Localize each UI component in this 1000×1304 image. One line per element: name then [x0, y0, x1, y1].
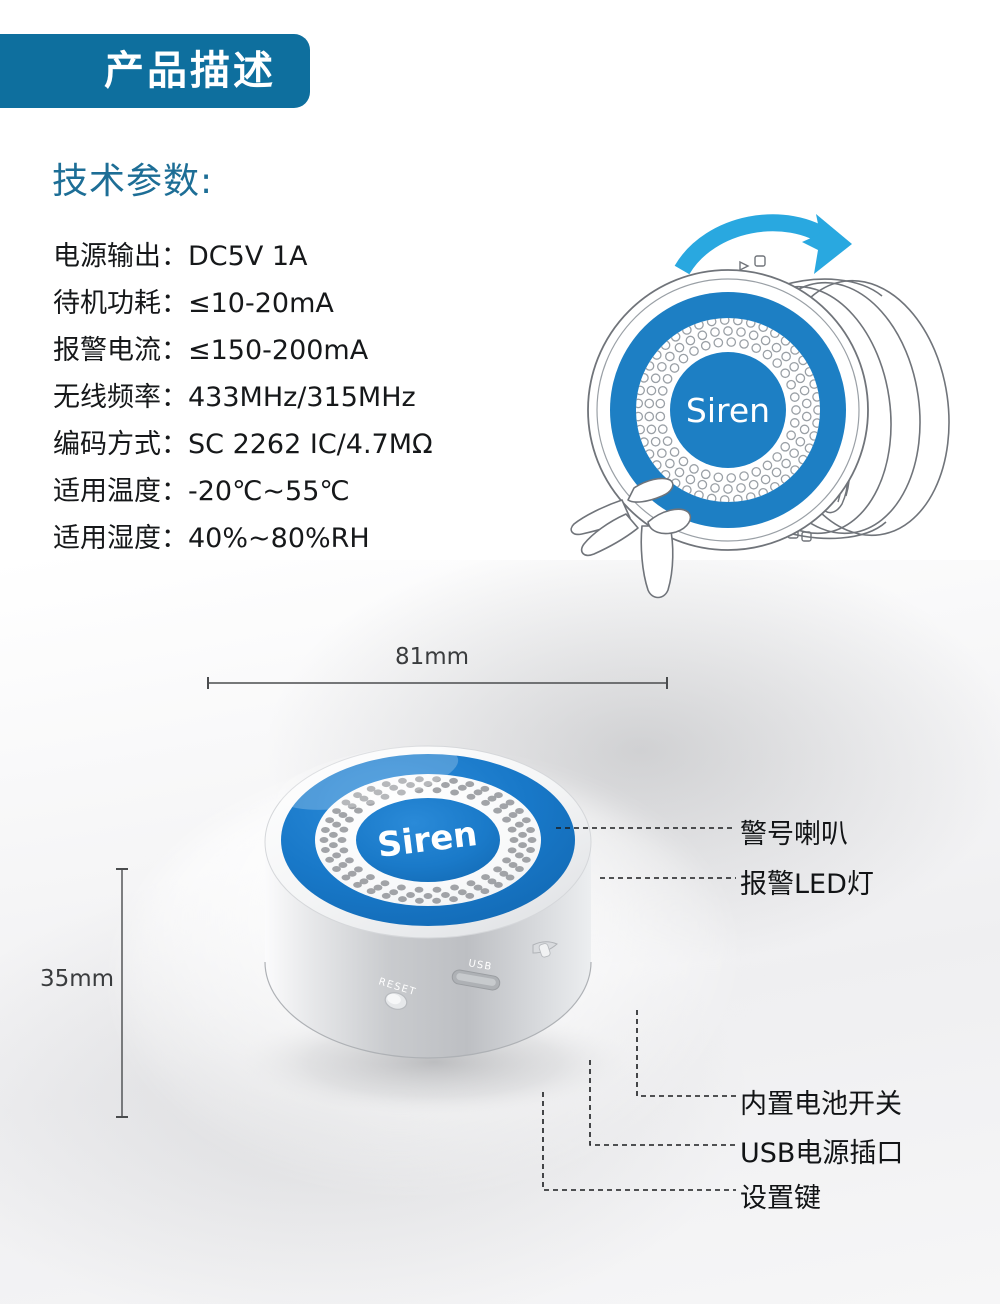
spec-value: ≤150-200mA — [188, 335, 368, 366]
spec-label: 待机功耗 — [53, 281, 161, 320]
callout-speaker: 警号喇叭 — [740, 812, 848, 851]
twist-cap-illustration: Siren — [530, 170, 1000, 600]
spec-label: 报警电流 — [53, 328, 161, 367]
spec-value: SC 2262 IC/4.7MΩ — [188, 429, 433, 460]
spec-list: 电源输出 ： DC5V 1A 待机功耗 ： ≤10-20mA 报警电流 ： ≤1… — [53, 234, 573, 563]
spec-colon: ： — [161, 469, 188, 508]
spec-colon: ： — [161, 375, 188, 414]
spec-label: 编码方式 — [53, 422, 161, 461]
callout-battery-switch: 内置电池开关 — [740, 1082, 902, 1121]
spec-label: 适用湿度 — [53, 516, 161, 555]
spec-value: 40%~80%RH — [188, 523, 370, 554]
spec-colon: ： — [161, 234, 188, 273]
product-description-page: 产品描述 技术参数: 电源输出 ： DC5V 1A 待机功耗 ： ≤10-20m… — [0, 0, 1000, 1304]
spec-row: 适用湿度 ： 40%~80%RH — [53, 516, 573, 563]
spec-value: ≤10-20mA — [188, 288, 334, 319]
section-badge: 产品描述 — [0, 34, 310, 108]
height-dimension-label: 35mm — [40, 966, 114, 992]
spec-value: 433MHz/315MHz — [188, 382, 416, 413]
rotate-arrow-icon — [682, 214, 852, 274]
spec-heading: 技术参数: — [52, 152, 213, 204]
spec-value: -20℃~55℃ — [188, 476, 350, 507]
spec-row: 编码方式 ： SC 2262 IC/4.7MΩ — [53, 422, 573, 469]
width-dimension-line — [207, 676, 668, 690]
callout-led: 报警LED灯 — [740, 862, 874, 901]
spec-colon: ： — [161, 281, 188, 320]
illustration-brand-text: Siren — [686, 391, 770, 430]
section-title: 产品描述 — [104, 51, 276, 91]
callout-usb-port: USB电源插口 — [740, 1131, 903, 1170]
height-dimension-line — [114, 868, 130, 1118]
width-dimension-label: 81mm — [395, 644, 469, 670]
spec-colon: ： — [161, 328, 188, 367]
spec-row: 报警电流 ： ≤150-200mA — [53, 328, 573, 375]
spec-row: 待机功耗 ： ≤10-20mA — [53, 281, 573, 328]
spec-row: 电源输出 ： DC5V 1A — [53, 234, 573, 281]
spec-row: 适用温度 ： -20℃~55℃ — [53, 469, 573, 516]
spec-label: 适用温度 — [53, 469, 161, 508]
spec-label: 无线频率 — [53, 375, 161, 414]
spec-value: DC5V 1A — [188, 241, 308, 272]
spec-label: 电源输出 — [53, 234, 161, 273]
spec-row: 无线频率 ： 433MHz/315MHz — [53, 375, 573, 422]
product-photo: RESET USB Siren — [178, 690, 678, 1160]
spec-colon: ： — [161, 516, 188, 555]
callout-setting-key: 设置键 — [740, 1176, 821, 1215]
spec-colon: ： — [161, 422, 188, 461]
